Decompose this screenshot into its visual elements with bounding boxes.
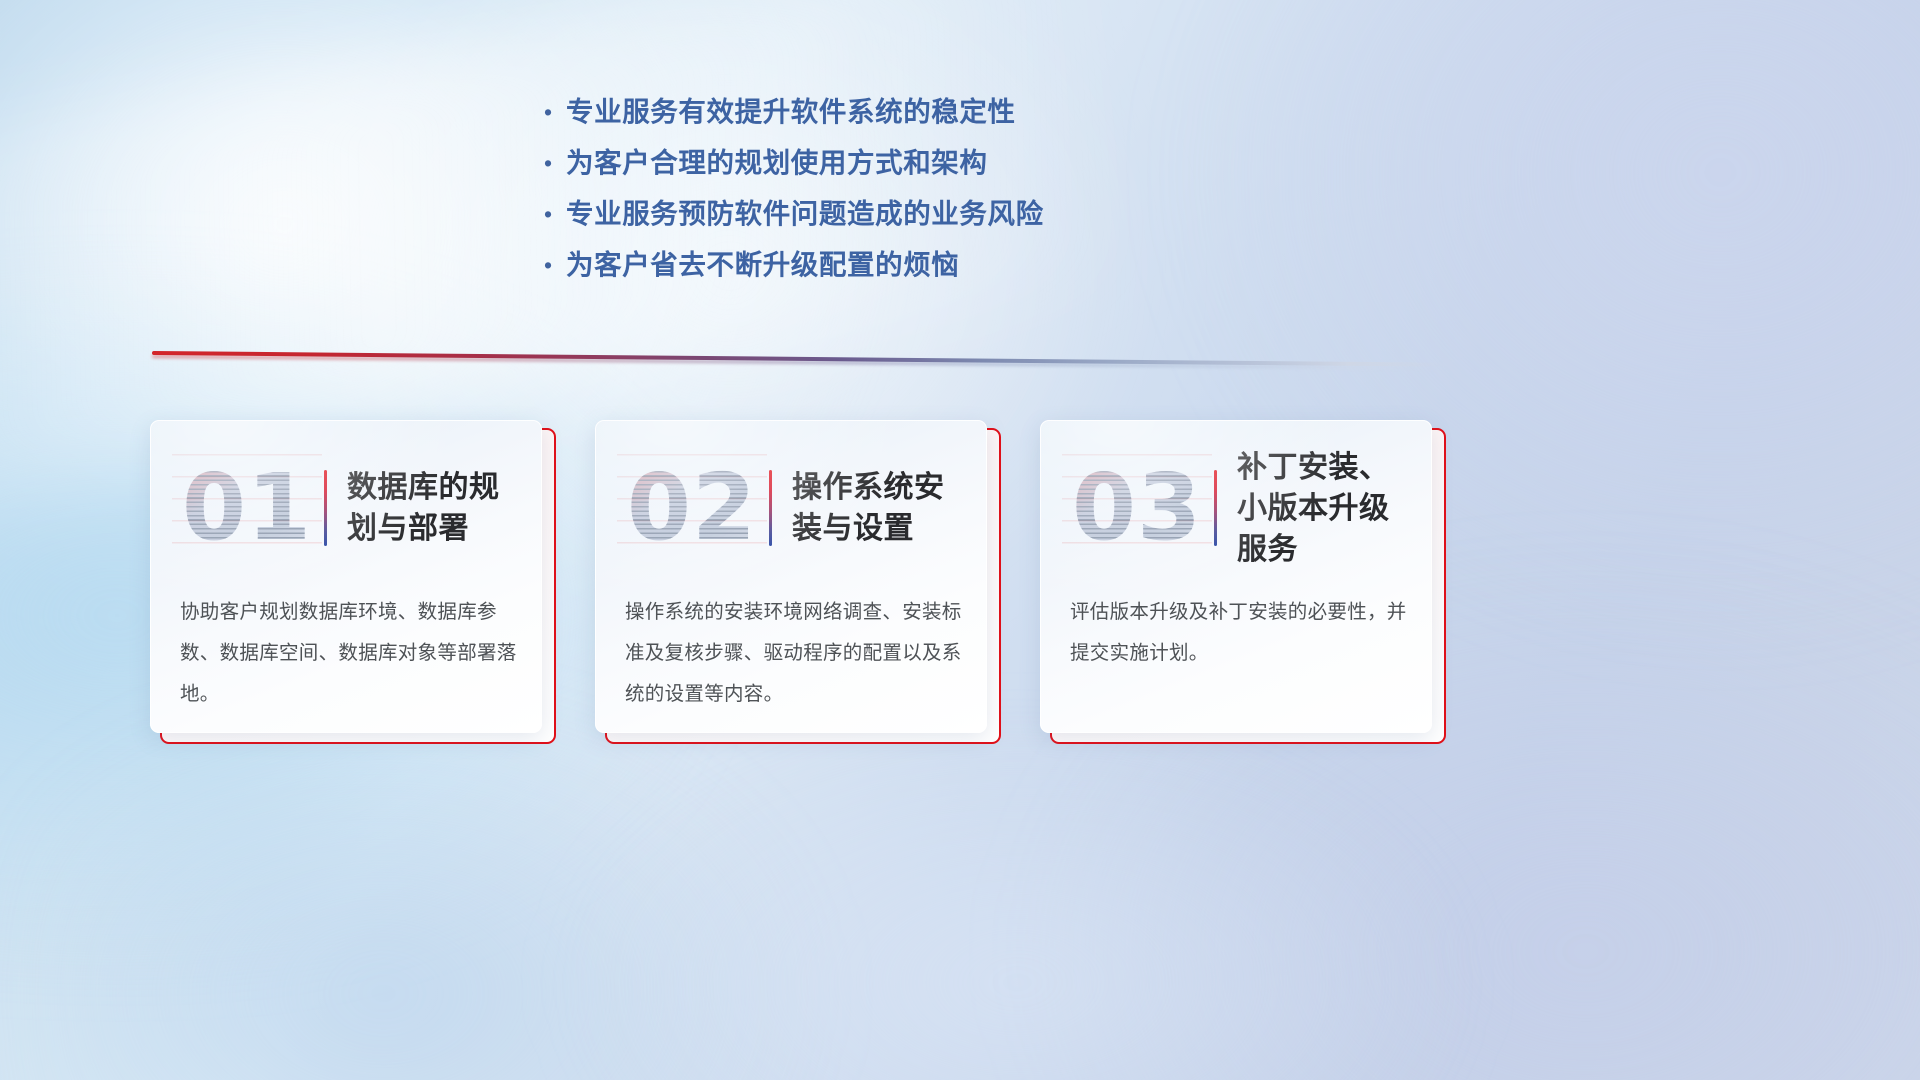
card-01[interactable]: 01 数据库的规划与部署 协助客户规划数据库环境、数据库参数、数据库空间、数据库…: [150, 420, 550, 740]
card-title: 操作系统安装与设置: [792, 467, 987, 549]
card-body-text: 评估版本升级及补丁安装的必要性，并提交实施计划。: [1070, 592, 1408, 674]
list-item: • 专业服务有效提升软件系统的稳定性: [540, 92, 1360, 143]
card-number-badge: 03: [1062, 454, 1212, 562]
card-number: 03: [1072, 462, 1202, 554]
card-accent-bar: [1214, 470, 1217, 546]
bullet-dot-icon: •: [540, 194, 566, 234]
card-accent-bar: [324, 470, 327, 546]
card-number: 02: [627, 462, 757, 554]
bullet-dot-icon: •: [540, 92, 566, 132]
card-surface: 03 补丁安装、小版本升级服务 评估版本升级及补丁安装的必要性，并提交实施计划。: [1040, 420, 1432, 733]
card-title: 补丁安装、小版本升级服务: [1237, 447, 1432, 570]
bullet-dot-icon: •: [540, 245, 566, 285]
bullet-text: 专业服务有效提升软件系统的稳定性: [566, 92, 1016, 132]
card-accent-bar: [769, 470, 772, 546]
card-02[interactable]: 02 操作系统安装与设置 操作系统的安装环境网络调查、安装标准及复核步骤、驱动程…: [595, 420, 995, 740]
card-header: 01 数据库的规划与部署: [150, 448, 542, 568]
card-title: 数据库的规划与部署: [347, 467, 542, 549]
bullet-text: 为客户省去不断升级配置的烦恼: [566, 245, 959, 285]
card-surface: 01 数据库的规划与部署 协助客户规划数据库环境、数据库参数、数据库空间、数据库…: [150, 420, 542, 733]
card-header: 03 补丁安装、小版本升级服务: [1040, 448, 1432, 568]
card-body-text: 操作系统的安装环境网络调查、安装标准及复核步骤、驱动程序的配置以及系统的设置等内…: [625, 592, 963, 715]
bullet-dot-icon: •: [540, 143, 566, 183]
list-item: • 为客户合理的规划使用方式和架构: [540, 143, 1360, 194]
card-surface: 02 操作系统安装与设置 操作系统的安装环境网络调查、安装标准及复核步骤、驱动程…: [595, 420, 987, 733]
card-header: 02 操作系统安装与设置: [595, 448, 987, 568]
card-body-text: 协助客户规划数据库环境、数据库参数、数据库空间、数据库对象等部署落地。: [180, 592, 518, 715]
card-number-badge: 02: [617, 454, 767, 562]
card-number-badge: 01: [172, 454, 322, 562]
list-item: • 专业服务预防软件问题造成的业务风险: [540, 194, 1360, 245]
list-item: • 为客户省去不断升级配置的烦恼: [540, 245, 1360, 296]
card-number: 01: [182, 462, 312, 554]
bullet-list: • 专业服务有效提升软件系统的稳定性 • 为客户合理的规划使用方式和架构 • 专…: [540, 92, 1360, 296]
card-03[interactable]: 03 补丁安装、小版本升级服务 评估版本升级及补丁安装的必要性，并提交实施计划。: [1040, 420, 1440, 740]
bullet-text: 专业服务预防软件问题造成的业务风险: [566, 194, 1044, 234]
bullet-text: 为客户合理的规划使用方式和架构: [566, 143, 988, 183]
card-row: 01 数据库的规划与部署 协助客户规划数据库环境、数据库参数、数据库空间、数据库…: [150, 420, 1440, 740]
background-glow-bottom-center: [576, 734, 1459, 1080]
